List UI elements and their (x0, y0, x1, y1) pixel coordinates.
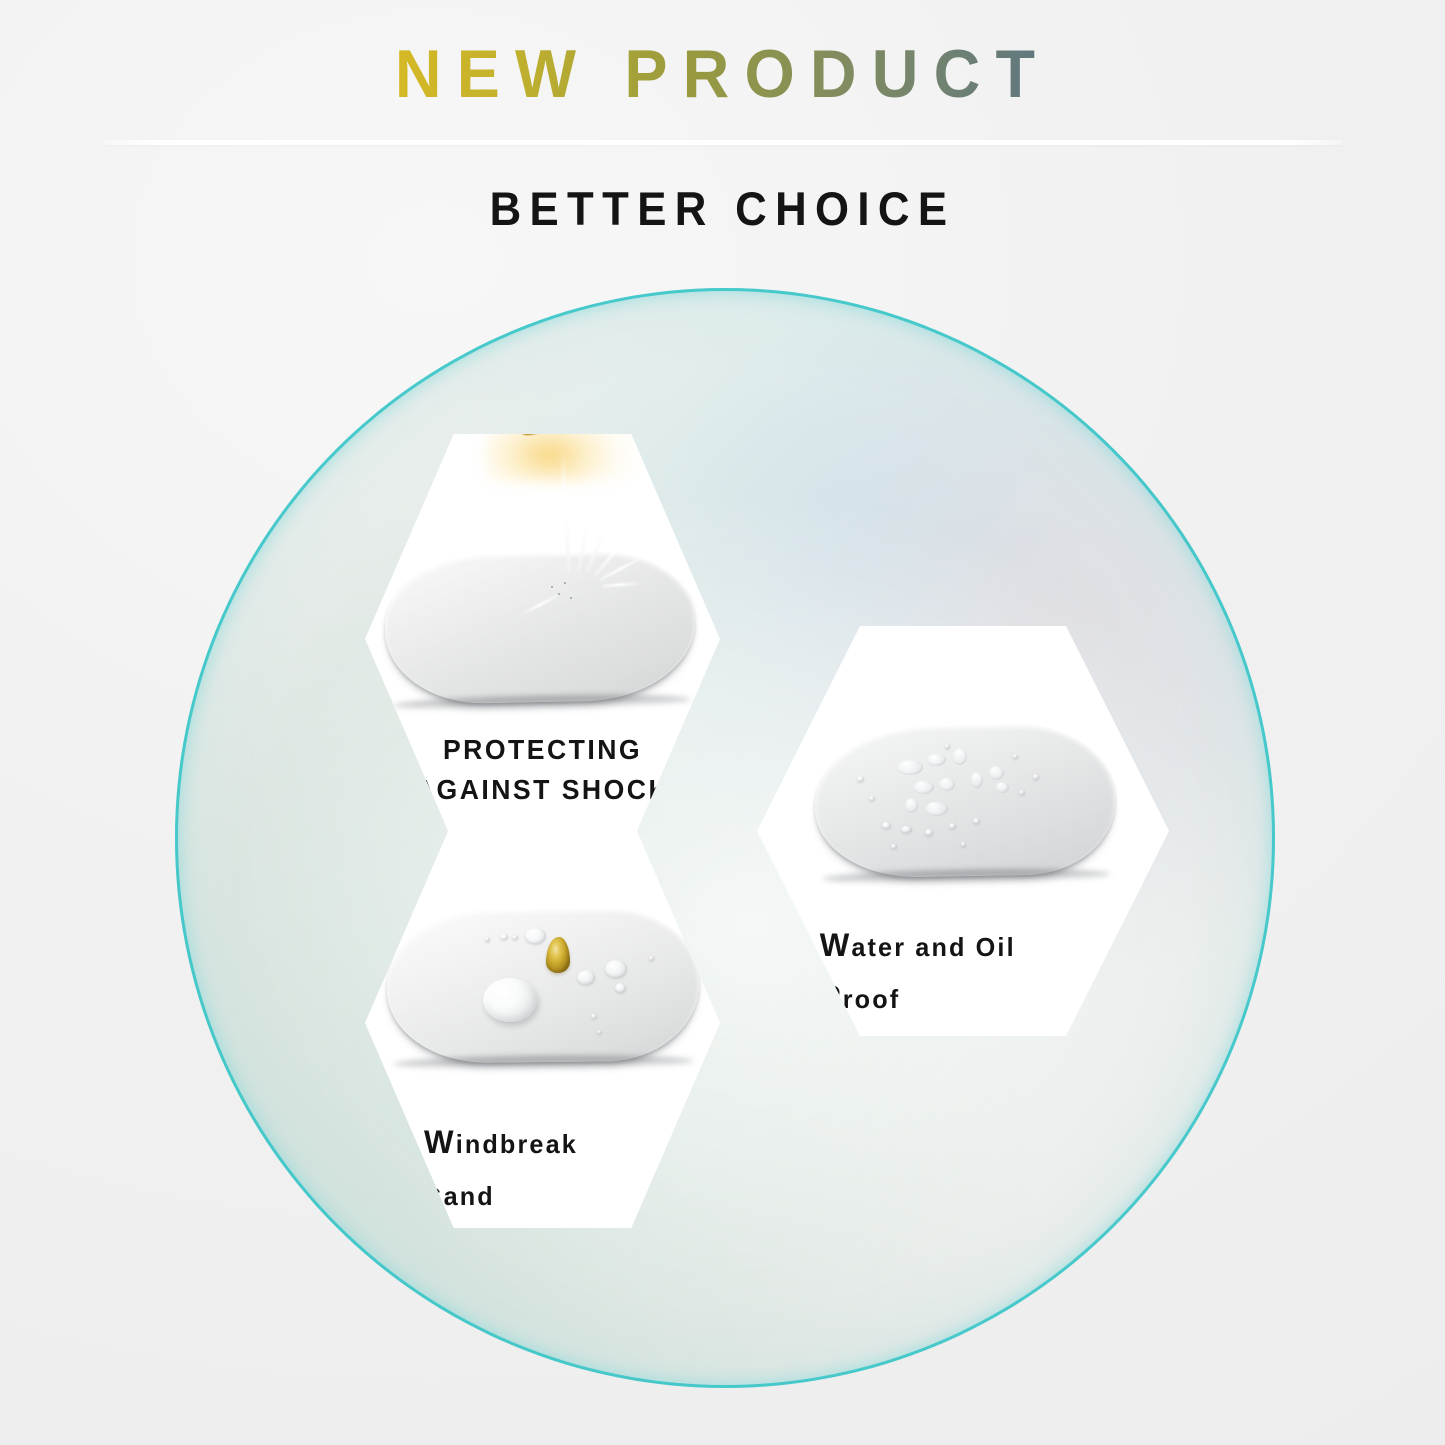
water-droplet (949, 823, 956, 829)
water-droplet (925, 802, 948, 816)
water-droplet (961, 842, 966, 847)
water-droplet (597, 1030, 602, 1034)
water-droplet (1013, 754, 1018, 759)
water-droplet (971, 772, 983, 788)
water-droplet (500, 934, 508, 940)
water-droplet (1019, 790, 1025, 795)
water-droplet (869, 796, 875, 801)
water-droplet (1033, 774, 1039, 780)
windbreak-caption-line-1: Windbreak (424, 1116, 686, 1168)
water-droplet (649, 956, 654, 961)
oil-droplet-icon (546, 937, 570, 973)
water-droplet (901, 826, 912, 833)
water-droplet (989, 766, 1004, 780)
spark-core-icon (514, 434, 603, 442)
debris-chip (570, 597, 572, 599)
header-block: NEW PRODUCT (0, 0, 1445, 165)
header-divider (103, 140, 1343, 145)
sunglass-lens-water-icon (814, 723, 1117, 878)
sunglass-lens-shock-icon (383, 551, 696, 705)
page-title: NEW PRODUCT (36, 40, 1409, 108)
water-droplet (897, 760, 923, 775)
water-droplet (591, 1014, 597, 1019)
water-droplet (996, 782, 1009, 793)
debris-chip (551, 586, 553, 588)
poster-canvas: NEW PRODUCT BETTER CHOICE (0, 0, 1445, 1445)
page-subtitle: BETTER CHOICE (51, 181, 1395, 236)
water-droplet (973, 818, 980, 824)
water-droplet (857, 776, 864, 782)
water-droplet (882, 822, 891, 829)
water-droplet (939, 778, 955, 791)
water-droplet (953, 748, 967, 765)
shock-caption-line-1: PROTECTING (374, 730, 711, 770)
water-droplet (891, 844, 897, 849)
water-droplet (905, 798, 918, 813)
debris-chip (558, 593, 560, 595)
water-droplet (925, 829, 933, 836)
water-droplet (927, 754, 946, 766)
water-droplet (525, 928, 546, 944)
water-droplet (913, 781, 934, 794)
water-droplet (615, 983, 626, 993)
large-water-bead (483, 978, 537, 1022)
water-droplet (512, 935, 518, 940)
debris-chip (564, 582, 566, 584)
water-droplet (605, 960, 627, 978)
water-droplet (577, 970, 595, 985)
water-oil-caption-line-1: Water and Oil (820, 919, 1125, 971)
water-droplet (485, 937, 490, 942)
water-droplet (945, 744, 950, 749)
